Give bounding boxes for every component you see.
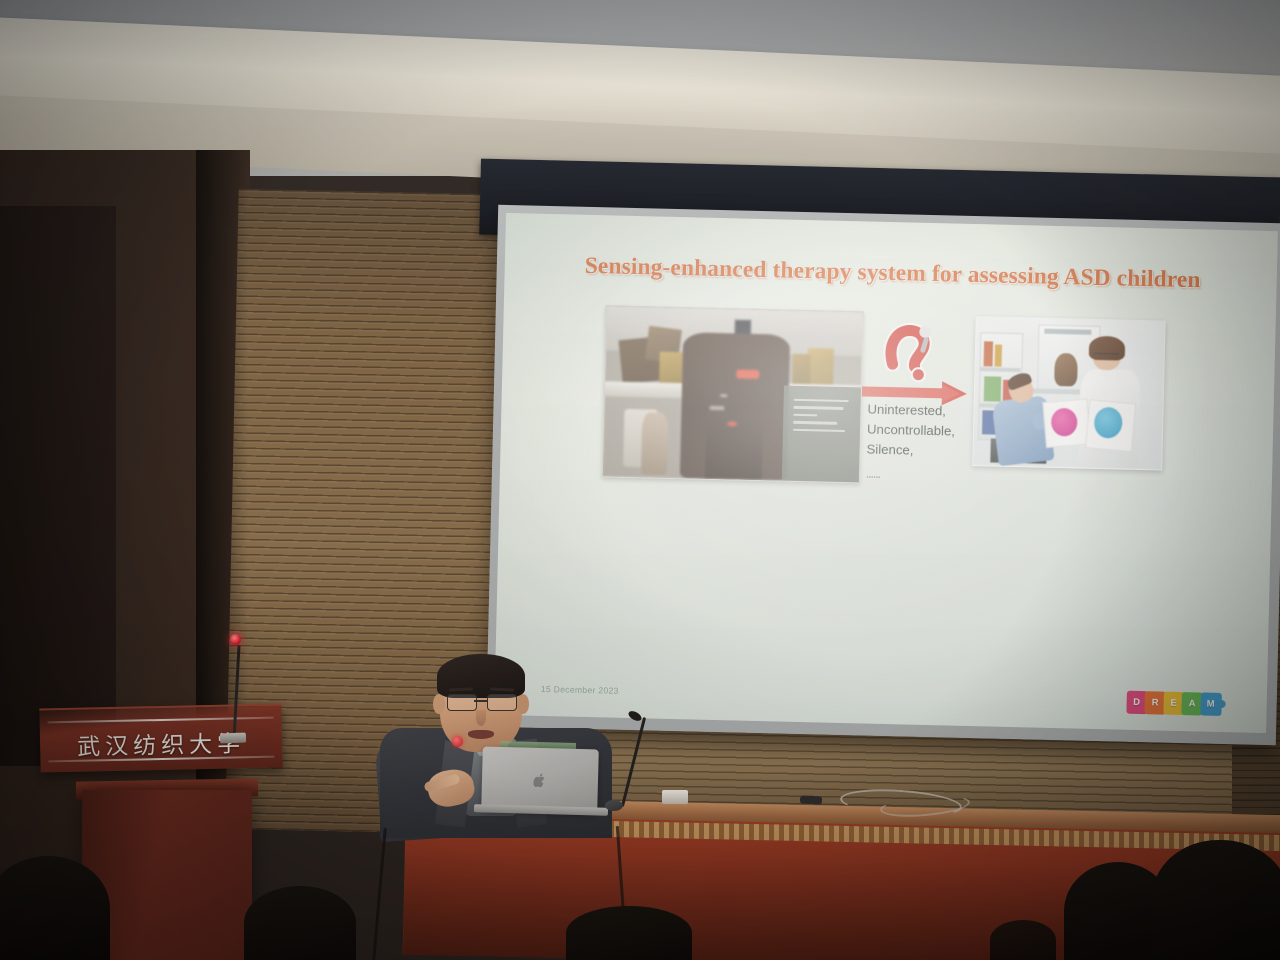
audience-head [244,886,356,960]
slide-date: 15 December 2023 [541,684,619,696]
overlay-text-line [794,421,838,424]
slide-right-figure [972,316,1165,470]
desk-table-mic [800,795,822,804]
overlay-text-line [794,398,848,402]
speaker-glasses-right-lens [487,694,517,711]
apple-logo-icon [533,772,546,787]
speaker-ear-right [517,694,529,714]
computer-mouse[interactable] [605,800,623,811]
presentation-photo-scene: Sensing-enhanced therapy system for asse… [0,0,1280,960]
audience-head [566,906,692,960]
overlay-text-line [794,414,818,417]
slide-title: Sensing-enhanced therapy system for asse… [554,252,1230,295]
overlay-text-line [793,429,845,433]
speaker-glasses-bridge [474,700,488,702]
podium-mic-led-indicator [230,634,241,645]
podium-mic-base [220,733,246,744]
speaker-lavalier-mic [452,736,463,747]
speaker-glasses-left-lens [447,694,477,711]
observation-line-1: Uninterested, [867,402,946,419]
laptop-lid[interactable] [481,746,599,813]
audience-head [1152,840,1280,960]
observation-line-3: Silence, [866,442,913,458]
speaker-mouth [468,730,494,739]
slide-left-figure [602,305,864,483]
left-wall-panel [0,206,116,766]
speaker-nose [476,710,486,726]
speaker-ear-left [433,694,445,714]
observation-ellipsis: ...... [866,465,981,486]
desk-mic-base [662,790,688,804]
projection-screen: Sensing-enhanced therapy system for asse… [494,213,1278,733]
logo-letter-m: M [1200,692,1222,715]
floor-cable-1 [372,828,386,960]
dream-project-logo: D R E A M [1126,691,1219,716]
observation-line-2: Uncontrollable, [867,422,955,439]
audience-head [990,920,1056,960]
presentation-slide: Sensing-enhanced therapy system for asse… [494,213,1278,733]
observation-text-block: Uninterested, Uncontrollable, Silence, .… [866,400,983,486]
overlay-text-line [794,406,844,410]
figure-blur-layer [973,317,1164,469]
sensor-readout-overlay [782,385,861,482]
podium-nameplate: 武汉纺织大学 [39,703,282,772]
red-question-mark-icon [880,320,955,384]
nameplate-trim-top [48,717,274,724]
